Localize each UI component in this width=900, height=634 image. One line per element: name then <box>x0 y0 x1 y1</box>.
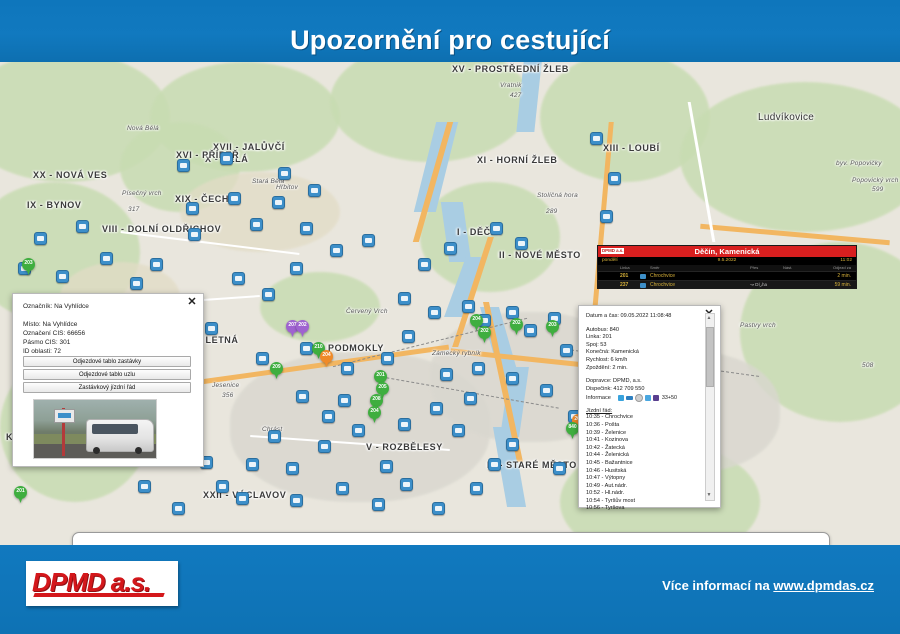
bus-stop-marker[interactable] <box>400 478 413 491</box>
bus-stop-marker[interactable] <box>402 330 415 343</box>
bus-stop-marker[interactable] <box>418 258 431 271</box>
terrain-forest <box>260 272 380 342</box>
vehicle-marker-on-time[interactable]: 209 <box>270 362 283 379</box>
stop-timetable-button[interactable]: Zastávkový jízdní řád <box>23 382 191 393</box>
callout-text: Aktuální polohy autobusů na linkách MAD … <box>73 533 829 545</box>
bus-stop-marker[interactable] <box>56 270 69 283</box>
bus-stop-marker[interactable] <box>553 462 566 475</box>
scrollbar-thumb[interactable] <box>706 327 714 387</box>
bus-stop-marker[interactable] <box>430 402 443 415</box>
bus-stop-marker[interactable] <box>278 167 291 180</box>
bus-stop-marker[interactable] <box>205 322 218 335</box>
vehicle-datetime: Datum a čas: 09.05.2022 11:08:48 <box>586 313 700 321</box>
photo-bus <box>86 419 154 452</box>
stop-info-popup[interactable]: ✕ Označník: Na Vyhlídce Místo: Na Vyhlíd… <box>12 293 204 467</box>
bus-stop-marker[interactable] <box>216 480 229 493</box>
vehicle-capacity: 33+50 <box>662 395 677 401</box>
bus-stop-marker[interactable] <box>188 228 201 241</box>
bus-stop-marker[interactable] <box>290 494 303 507</box>
departure-board-clock: 11:02 <box>840 257 852 265</box>
map-district-label: IX - BYNOV <box>27 200 82 210</box>
bus-stop-marker[interactable] <box>286 462 299 475</box>
departure-line: 237 <box>620 281 628 289</box>
departure-via: ↝ Dراha <box>750 281 767 289</box>
bus-stop-marker[interactable] <box>246 458 259 471</box>
departure-direction: Chrochvice <box>650 272 675 280</box>
vehicle-operator: Dopravce: DPMD, a.s. <box>586 378 700 386</box>
vehicle-terminus: Konečná: Kamenická <box>586 349 700 357</box>
map-place-label: Popovický vrch <box>852 177 899 184</box>
bus-stop-marker[interactable] <box>590 132 603 145</box>
map-district-label: VIII - DOLNÍ OLDŘICHOV <box>102 224 221 234</box>
low-floor-icon <box>618 395 624 401</box>
callout-banner: Aktuální polohy autobusů na linkách MAD … <box>72 532 830 545</box>
vehicle-dispatch: Dispečink: 412 709 550 <box>586 386 700 394</box>
bus-stop-marker[interactable] <box>228 192 241 205</box>
footer-more-info: Více informací na www.dpmdas.cz <box>662 578 874 593</box>
header-bar: Upozornění pro cestující <box>0 0 900 62</box>
bus-stop-marker[interactable] <box>300 222 313 235</box>
presentation-slide: Upozornění pro cestující <box>0 0 900 634</box>
timetable-entry: 10:36 - Pošta <box>586 422 700 430</box>
bus-stop-marker[interactable] <box>428 306 441 319</box>
bus-stop-marker[interactable] <box>432 502 445 515</box>
bus-stop-marker[interactable] <box>330 244 343 257</box>
bus-stop-marker[interactable] <box>398 292 411 305</box>
map-district-label: V - ROZBĚLESY <box>366 442 443 452</box>
departure-row[interactable]: 237 Chrochvice ↝ Dراha 59 min. <box>598 280 856 289</box>
map-elevation-label: 356 <box>222 392 233 399</box>
bus-stop-marker[interactable] <box>220 152 233 165</box>
vehicle-marker-on-time[interactable]: 204 <box>368 406 381 423</box>
departure-board-subheader: pondělí 9.5.2022 11:02 <box>598 257 856 265</box>
departure-line: 201 <box>620 272 628 280</box>
map-village-label: Ludvíkovice <box>758 112 814 123</box>
bus-stop-marker[interactable] <box>440 368 453 381</box>
bus-stop-marker[interactable] <box>318 440 331 453</box>
bus-stop-marker[interactable] <box>296 390 309 403</box>
display-icon <box>645 395 651 401</box>
bus-stop-marker[interactable] <box>341 362 354 375</box>
timetable-entry: 10:39 - Želenice <box>586 430 700 438</box>
stop-detail-cis: Označení CIS: 66656 <box>23 329 85 338</box>
map-place-label: Pastvy vrch <box>740 322 776 329</box>
stop-photo <box>33 399 157 459</box>
stop-designator: Označník: Na Vyhlídce <box>23 302 89 311</box>
scroll-up-icon[interactable]: ▲ <box>706 315 712 322</box>
map-place-label: Zámecký rybník <box>432 350 481 357</box>
timetable-entry: 10:44 - Želenická <box>586 452 700 460</box>
vehicle-delay: Zpoždění: 2 min. <box>586 365 700 373</box>
bus-stop-marker[interactable] <box>308 184 321 197</box>
bus-stop-marker[interactable] <box>138 480 151 493</box>
vehicle-popup-body: Datum a čas: 09.05.2022 11:08:48 Autobus… <box>586 313 700 513</box>
map-place-label: Písečný vrch <box>122 190 162 197</box>
map-district-label: XIX - ČECHY <box>175 194 236 204</box>
bus-stop-marker[interactable] <box>524 324 537 337</box>
departure-board-widget[interactable]: DPMD a.s. Děčín, Kamenická pondělí 9.5.2… <box>597 245 857 289</box>
footer-bar: DPMD a.s. Více informací na www.dpmdas.c… <box>0 545 900 634</box>
bus-stop-marker[interactable] <box>236 492 249 505</box>
map-place-label: Červený Vrch <box>346 308 388 315</box>
map-district-label: XI - HORNÍ ŽLEB <box>477 155 558 165</box>
bus-icon <box>640 283 646 288</box>
departure-board-header: DPMD a.s. Děčín, Kamenická <box>598 246 856 257</box>
vehicle-bus-number: Autobus: 840 <box>586 327 700 335</box>
map-place-label: Nová Bělá <box>127 125 159 132</box>
map-elevation-label: 317 <box>128 206 139 213</box>
timetable-entry: 10:49 - Aut.nádr. <box>586 483 700 491</box>
bus-stop-marker[interactable] <box>444 242 457 255</box>
info-label: Informace <box>586 395 611 403</box>
stop-detail-area-id: ID oblasti: 72 <box>23 347 85 356</box>
map-elevation-label: 599 <box>872 186 883 193</box>
bus-stop-marker[interactable] <box>76 220 89 233</box>
bus-stop-marker[interactable] <box>488 458 501 471</box>
timetable-entry: 10:46 - Husitská <box>586 468 700 476</box>
node-departure-board-button[interactable]: Odjezdové tablo uzlu <box>23 369 191 380</box>
close-icon[interactable]: ✕ <box>186 297 198 309</box>
bus-stop-marker[interactable] <box>250 218 263 231</box>
stop-popup-heading: Označník: Na Vyhlídce <box>23 302 89 311</box>
dpmd-logo: DPMD a.s. <box>26 561 178 606</box>
stop-detail-place: Místo: Na Vyhlídce <box>23 320 85 329</box>
departure-direction: Chrochvice <box>650 281 675 289</box>
bus-stop-marker[interactable] <box>372 498 385 511</box>
bus-stop-marker[interactable] <box>380 460 393 473</box>
bus-stop-marker[interactable] <box>338 394 351 407</box>
bus-stop-marker[interactable] <box>600 210 613 223</box>
bus-stop-marker[interactable] <box>452 424 465 437</box>
departure-board-stop-name: Děčín, Kamenická <box>598 246 856 257</box>
bus-stop-marker[interactable] <box>268 430 281 443</box>
bus-stop-marker[interactable] <box>490 222 503 235</box>
footer-info-prefix: Více informací na <box>662 578 773 593</box>
seats-icon <box>653 395 659 401</box>
vehicle-marker-on-time[interactable]: 202 <box>478 326 491 343</box>
timetable-entry: 10:52 - Hl.nádr. <box>586 490 700 498</box>
bus-stop-marker[interactable] <box>336 482 349 495</box>
vehicle-marker-delay-1[interactable]: 202 <box>296 320 309 337</box>
dpmdas-link[interactable]: www.dpmdas.cz <box>773 578 874 593</box>
map-district-label: II - NOVÉ MĚSTO <box>499 250 581 260</box>
map-place-label: Vratnik <box>500 82 522 89</box>
vehicle-marker-on-time[interactable]: 202 <box>510 318 523 335</box>
bus-stop-marker[interactable] <box>506 372 519 385</box>
bus-stop-marker[interactable] <box>464 392 477 405</box>
bus-stop-marker[interactable] <box>540 384 553 397</box>
bus-stop-marker[interactable] <box>472 362 485 375</box>
vehicle-marker-on-time[interactable]: 203 <box>546 320 559 337</box>
bus-stop-marker[interactable] <box>608 172 621 185</box>
bus-stop-marker[interactable] <box>462 300 475 313</box>
map-district-label: PODMOKLY <box>328 343 384 353</box>
stop-popup-actions: Odjezdové tablo zastávky Odjezdové tablo… <box>23 356 191 395</box>
departure-countdown: 2 min. <box>837 272 851 280</box>
bus-icon <box>640 274 646 279</box>
map-place-label: Jesenice <box>212 382 239 389</box>
page-title: Upozornění pro cestující <box>0 25 900 56</box>
stop-departure-board-button[interactable]: Odjezdové tablo zastávky <box>23 356 191 367</box>
map-district-label: XV - PROSTŘEDNÍ ŽLEB <box>452 64 569 74</box>
bus-stop-marker[interactable] <box>177 159 190 172</box>
logo-underline <box>33 593 164 597</box>
vehicle-line: Linka: 201 <box>586 334 700 342</box>
bus-stop-marker[interactable] <box>381 352 394 365</box>
timetable-entry: 10:41 - Kozinova <box>586 437 700 445</box>
vehicle-info-icons: Informace 33+50 <box>586 394 700 402</box>
departure-countdown: 59 min. <box>835 281 851 289</box>
map-elevation-label: 427 <box>510 92 521 99</box>
bus-stop-marker[interactable] <box>256 352 269 365</box>
timetable-entry: 10:47 - Výtopny <box>586 475 700 483</box>
bus-stop-marker[interactable] <box>560 344 573 357</box>
map-place-label: Hřbitov <box>276 184 298 191</box>
scroll-down-icon[interactable]: ▼ <box>706 492 712 499</box>
vehicle-marker-on-time[interactable]: 203 <box>22 258 35 275</box>
map-elevation-label: 508 <box>862 362 873 369</box>
bus-stop-marker[interactable] <box>130 277 143 290</box>
bus-stop-marker[interactable] <box>262 288 275 301</box>
bus-stop-marker[interactable] <box>232 272 245 285</box>
timetable-entry: 10:54 - Tyršův most <box>586 498 700 506</box>
vehicle-marker-delay-2[interactable]: 204 <box>320 350 333 367</box>
ramp-icon <box>626 396 633 400</box>
departure-board-date: 9.5.2022 <box>598 257 856 265</box>
map-place-label: Stolíčná hora <box>537 192 578 199</box>
timetable-entry: 10:35 - Chrochvice <box>586 414 700 422</box>
bus-stop-marker[interactable] <box>470 482 483 495</box>
bus-stop-marker[interactable] <box>150 258 163 271</box>
bus-stop-marker[interactable] <box>362 234 375 247</box>
vehicle-info-popup[interactable]: ✕ Datum a čas: 09.05.2022 11:08:48 Autob… <box>578 305 721 508</box>
stop-detail-zone: Pásmo CIS: 301 <box>23 338 85 347</box>
map-elevation-label: 289 <box>546 208 557 215</box>
timetable-entry: 10:56 - Tyršova <box>586 505 700 513</box>
departure-row[interactable]: 201 Chrochvice 2 min. <box>598 271 856 280</box>
bus-stop-marker[interactable] <box>506 438 519 451</box>
bus-stop-marker[interactable] <box>515 237 528 250</box>
stop-popup-details: Místo: Na Vyhlídce Označení CIS: 66656 P… <box>23 320 85 356</box>
vehicle-trip: Spoj: 53 <box>586 342 700 350</box>
bus-stop-marker[interactable] <box>34 232 47 245</box>
timetable-entry: 10:45 - Bažantnice <box>586 460 700 468</box>
vertical-scrollbar[interactable]: ▲ ▼ <box>705 313 715 501</box>
vehicle-speed: Rychlost: 6 km/h <box>586 357 700 365</box>
bus-stop-marker[interactable] <box>272 196 285 209</box>
map-district-label: XX - NOVÁ VES <box>33 170 107 180</box>
map-place-label: byv. Popovičky <box>836 160 882 167</box>
map-canvas[interactable]: XV - PROSTŘEDNÍ ŽLEB XVII - JALŮVČÍ X - … <box>0 62 900 545</box>
vehicle-marker-on-time[interactable]: 201 <box>14 486 27 503</box>
bus-stop-marker[interactable] <box>186 202 199 215</box>
photo-stop-sign <box>54 409 75 423</box>
bus-stop-marker[interactable] <box>100 252 113 265</box>
map-district-label: XIII - LOUBÍ <box>603 143 660 153</box>
bus-stop-marker[interactable] <box>352 424 365 437</box>
bus-stop-marker[interactable] <box>398 418 411 431</box>
bus-stop-marker[interactable] <box>322 410 335 423</box>
ac-icon <box>635 394 643 402</box>
bus-stop-marker[interactable] <box>290 262 303 275</box>
bus-stop-marker[interactable] <box>172 502 185 515</box>
